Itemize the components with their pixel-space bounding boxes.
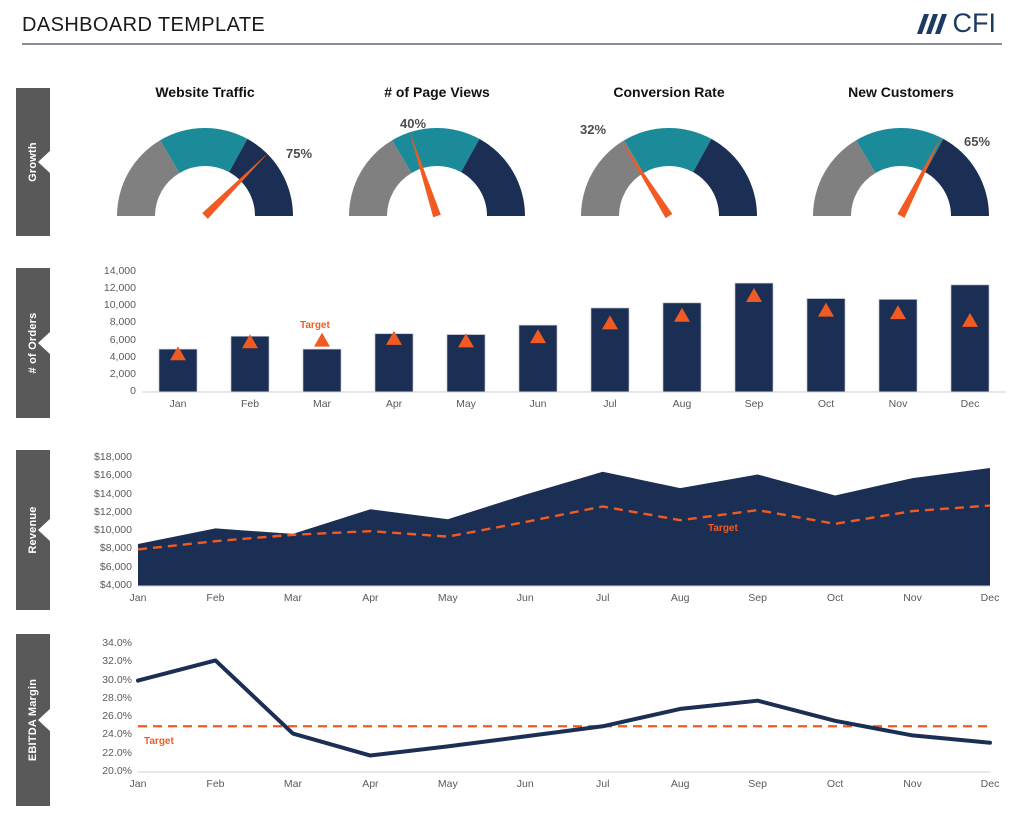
ebitda-line-chart: 20.0%22.0%24.0%26.0%28.0%30.0%32.0%34.0%… (60, 634, 1010, 806)
y-tick-label: 32.0% (60, 655, 132, 667)
x-tick-label: Mar (286, 398, 358, 410)
header-divider (22, 43, 1002, 45)
gauge-value-label: 75% (286, 146, 312, 161)
x-tick-label: Apr (340, 778, 400, 790)
chevron-right-icon (38, 331, 51, 355)
section-tab-orders[interactable]: # of Orders (16, 268, 50, 418)
x-tick-label: Feb (185, 778, 245, 790)
x-tick-label: Jul (574, 398, 646, 410)
x-tick-label: Nov (862, 398, 934, 410)
x-tick-label: Apr (340, 592, 400, 604)
y-tick-label: 0 (60, 385, 136, 397)
y-tick-label: 22.0% (60, 747, 132, 759)
y-tick-label: 34.0% (60, 637, 132, 649)
orders-bar-chart: 02,0004,0006,0008,00010,00012,00014,000 … (60, 264, 1010, 422)
y-tick-label: $6,000 (60, 561, 132, 573)
page-title: DASHBOARD TEMPLATE (22, 14, 265, 37)
y-tick-label: 20.0% (60, 765, 132, 777)
revenue-area-plot (60, 450, 1010, 610)
x-tick-label: May (430, 398, 502, 410)
x-tick-label: Aug (650, 592, 710, 604)
y-tick-label: 6,000 (60, 334, 136, 346)
x-tick-label: Jun (502, 398, 574, 410)
cfi-logo: CFI (911, 8, 997, 38)
y-tick-label: 2,000 (60, 368, 136, 380)
x-tick-label: Feb (185, 592, 245, 604)
y-tick-label: 12,000 (60, 282, 136, 294)
gauge-dial (90, 108, 320, 238)
chevron-right-icon (38, 708, 51, 732)
x-tick-label: Jun (495, 592, 555, 604)
orders-target-annotation: Target (300, 320, 330, 331)
y-tick-label: 24.0% (60, 728, 132, 740)
x-tick-label: Dec (934, 398, 1006, 410)
gauge-website-traffic: Website Traffic 75% (90, 84, 320, 239)
x-tick-label: Jan (142, 398, 214, 410)
gauge-title: New Customers (786, 84, 1016, 100)
y-tick-label: $12,000 (60, 506, 132, 518)
revenue-target-annotation: Target (708, 523, 738, 534)
y-tick-label: 26.0% (60, 710, 132, 722)
y-tick-label: 30.0% (60, 674, 132, 686)
x-tick-label: Apr (358, 398, 430, 410)
x-tick-label: Oct (790, 398, 862, 410)
y-tick-label: 28.0% (60, 692, 132, 704)
gauge-conversion-rate: Conversion Rate 32% (554, 84, 784, 239)
three-slanted-bars-icon (911, 10, 951, 36)
y-tick-label: $16,000 (60, 469, 132, 481)
x-tick-label: Aug (650, 778, 710, 790)
chevron-right-icon (38, 518, 51, 542)
y-tick-label: $4,000 (60, 579, 132, 591)
section-tab-growth[interactable]: Growth (16, 88, 50, 236)
x-tick-label: Oct (805, 778, 865, 790)
x-tick-label: Nov (883, 592, 943, 604)
x-tick-label: Jul (573, 592, 633, 604)
x-tick-label: May (418, 778, 478, 790)
x-tick-label: Mar (263, 778, 323, 790)
x-tick-label: May (418, 592, 478, 604)
gauge-title: # of Page Views (322, 84, 552, 100)
x-tick-label: Sep (728, 778, 788, 790)
x-tick-label: Jan (108, 592, 168, 604)
gauge-title: Website Traffic (90, 84, 320, 100)
gauge-value-label: 40% (400, 116, 426, 131)
x-tick-label: Nov (883, 778, 943, 790)
dashboard-header: DASHBOARD TEMPLATE CFI (0, 0, 1024, 48)
y-tick-label: $14,000 (60, 488, 132, 500)
y-tick-label: 14,000 (60, 265, 136, 277)
x-tick-label: Oct (805, 592, 865, 604)
logo-text: CFI (953, 10, 997, 37)
x-tick-label: Feb (214, 398, 286, 410)
revenue-area-chart: $4,000$6,000$8,000$10,000$12,000$14,000$… (60, 450, 1010, 610)
growth-gauges-row: Website Traffic 75% # of Page Views 40% … (90, 84, 1020, 239)
gauge-page-views: # of Page Views 40% (322, 84, 552, 239)
ebitda-target-annotation: Target (144, 736, 174, 747)
y-tick-label: 4,000 (60, 351, 136, 363)
x-tick-label: Jul (573, 778, 633, 790)
chevron-right-icon (38, 150, 51, 174)
x-tick-label: Sep (728, 592, 788, 604)
gauge-dial (322, 108, 552, 238)
gauge-title: Conversion Rate (554, 84, 784, 100)
gauge-value-label: 65% (964, 134, 990, 149)
y-tick-label: 8,000 (60, 316, 136, 328)
x-tick-label: Mar (263, 592, 323, 604)
x-tick-label: Jan (108, 778, 168, 790)
y-tick-label: $18,000 (60, 451, 132, 463)
x-tick-label: Jun (495, 778, 555, 790)
x-tick-label: Dec (960, 592, 1020, 604)
x-tick-label: Dec (960, 778, 1020, 790)
gauge-new-customers: New Customers 65% (786, 84, 1016, 239)
y-tick-label: $10,000 (60, 524, 132, 536)
section-tab-ebitda[interactable]: EBITDA Margin (16, 634, 50, 806)
y-tick-label: $8,000 (60, 542, 132, 554)
gauge-value-label: 32% (580, 122, 606, 137)
y-tick-label: 10,000 (60, 299, 136, 311)
x-tick-label: Aug (646, 398, 718, 410)
x-tick-label: Sep (718, 398, 790, 410)
gauge-dial (786, 108, 1016, 238)
section-tab-revenue[interactable]: Revenue (16, 450, 50, 610)
